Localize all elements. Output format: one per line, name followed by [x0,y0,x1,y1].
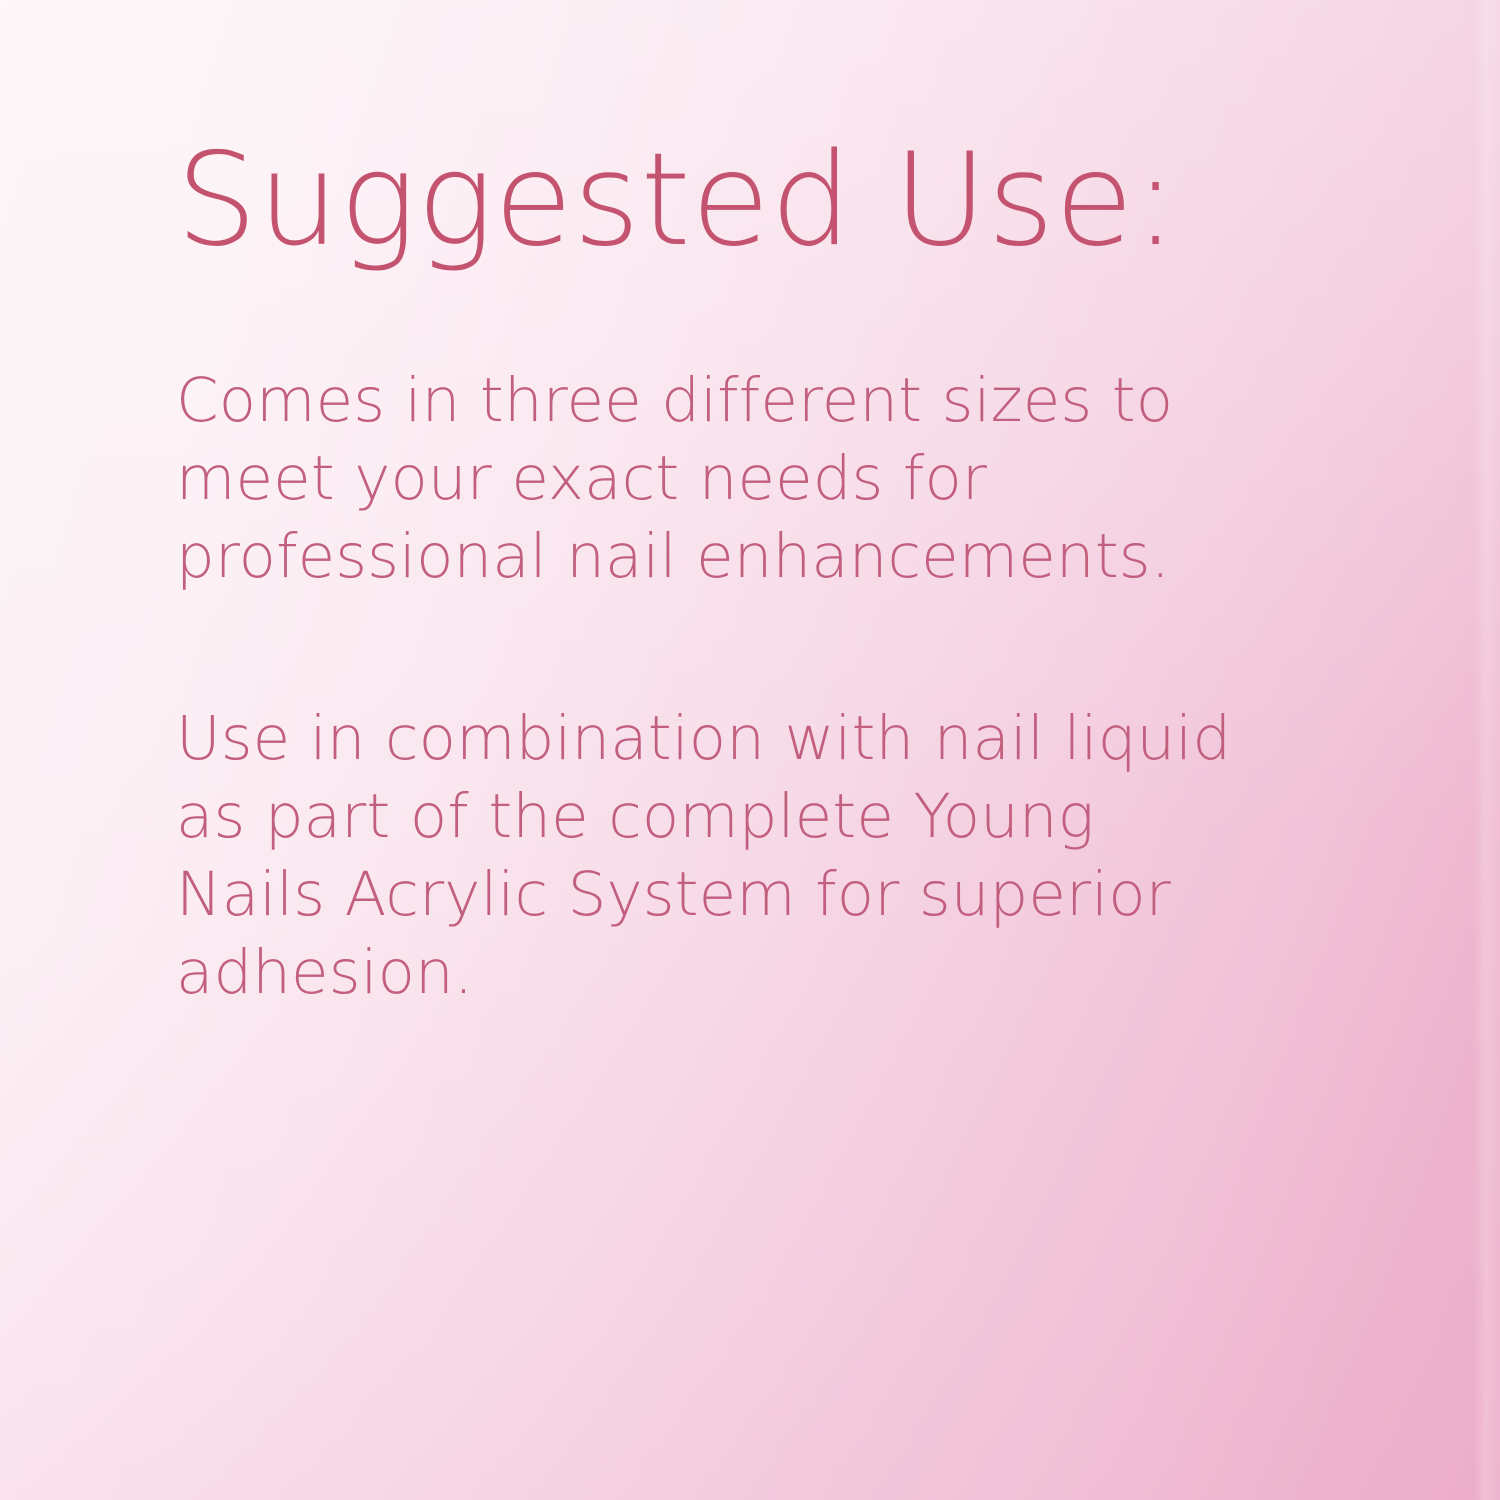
body-copy: Comes in three different sizes to meet y… [176,362,1266,1012]
page-title: Suggested Use: [176,132,1266,270]
text-content-block: Suggested Use: Comes in three different … [176,132,1266,1012]
paragraph-sizes: Comes in three different sizes to meet y… [176,362,1256,596]
product-info-panel: Suggested Use: Comes in three different … [0,0,1500,1500]
paragraph-usage: Use in combination with nail liquid as p… [176,700,1256,1012]
